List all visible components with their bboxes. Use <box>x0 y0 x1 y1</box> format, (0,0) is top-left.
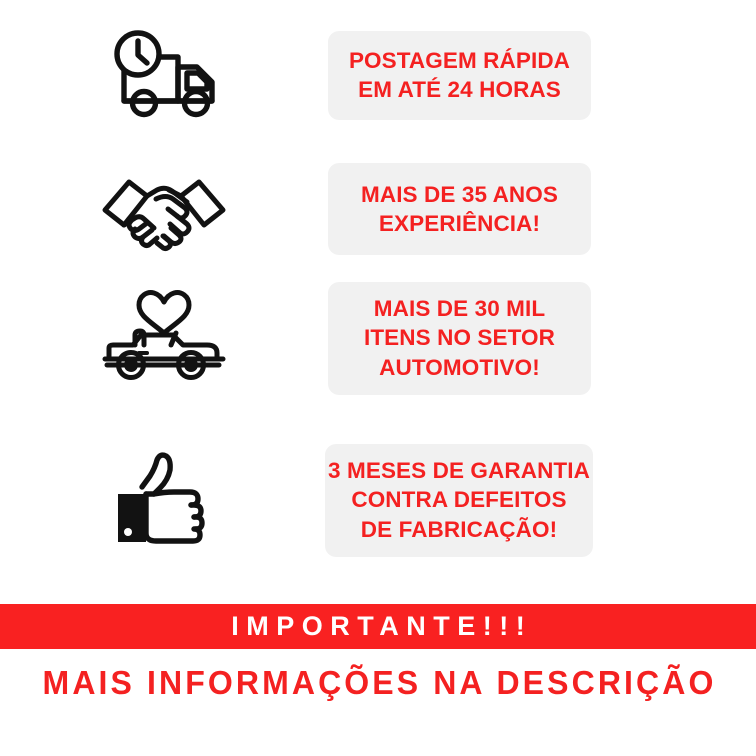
benefit-card: MAIS DE 35 ANOS EXPERIÊNCIA! <box>328 163 591 255</box>
convertible-car-heart-icon <box>0 285 328 391</box>
benefit-card-cell: 3 MESES DE GARANTIA CONTRA DEFEITOS DE F… <box>328 444 756 557</box>
benefit-line: EM ATÉ 24 HORAS <box>358 75 561 104</box>
benefit-row: MAIS DE 30 MIL ITENS NO SETOR AUTOMOTIVO… <box>0 268 756 408</box>
delivery-truck-clock-icon <box>0 27 328 123</box>
benefit-line: MAIS DE 35 ANOS <box>361 180 558 209</box>
benefit-row: POSTAGEM RÁPIDA EM ATÉ 24 HORAS <box>0 0 756 150</box>
benefit-line: ITENS NO SETOR <box>364 323 555 352</box>
benefit-line: CONTRA DEFEITOS <box>351 485 566 514</box>
benefit-card-cell: POSTAGEM RÁPIDA EM ATÉ 24 HORAS <box>328 31 756 120</box>
promo-banner-page: POSTAGEM RÁPIDA EM ATÉ 24 HORAS <box>0 0 756 756</box>
benefit-card-cell: MAIS DE 35 ANOS EXPERIÊNCIA! <box>328 163 756 255</box>
benefit-card: 3 MESES DE GARANTIA CONTRA DEFEITOS DE F… <box>325 444 593 557</box>
benefit-card: MAIS DE 30 MIL ITENS NO SETOR AUTOMOTIVO… <box>328 282 591 395</box>
benefit-line: DE FABRICAÇÃO! <box>361 515 557 544</box>
benefits-list: POSTAGEM RÁPIDA EM ATÉ 24 HORAS <box>0 0 756 592</box>
benefit-card: POSTAGEM RÁPIDA EM ATÉ 24 HORAS <box>328 31 591 120</box>
benefit-line: POSTAGEM RÁPIDA <box>349 46 570 75</box>
benefit-row: 3 MESES DE GARANTIA CONTRA DEFEITOS DE F… <box>0 408 756 592</box>
handshake-icon <box>0 166 328 252</box>
description-callout-text: MAIS INFORMAÇÕES NA DESCRIÇÃO <box>39 664 716 702</box>
benefit-card-cell: MAIS DE 30 MIL ITENS NO SETOR AUTOMOTIVO… <box>328 282 756 395</box>
benefit-line: EXPERIÊNCIA! <box>379 209 540 238</box>
benefit-row: MAIS DE 35 ANOS EXPERIÊNCIA! <box>0 150 756 268</box>
important-banner: IMPORTANTE!!! <box>0 604 756 649</box>
benefit-line: MAIS DE 30 MIL <box>374 294 545 323</box>
benefit-line: 3 MESES DE GARANTIA <box>328 456 590 485</box>
benefit-line: AUTOMOTIVO! <box>379 353 540 382</box>
description-callout: MAIS INFORMAÇÕES NA DESCRIÇÃO <box>0 655 756 711</box>
important-banner-text: IMPORTANTE!!! <box>224 611 532 642</box>
thumbs-up-icon <box>0 450 328 550</box>
